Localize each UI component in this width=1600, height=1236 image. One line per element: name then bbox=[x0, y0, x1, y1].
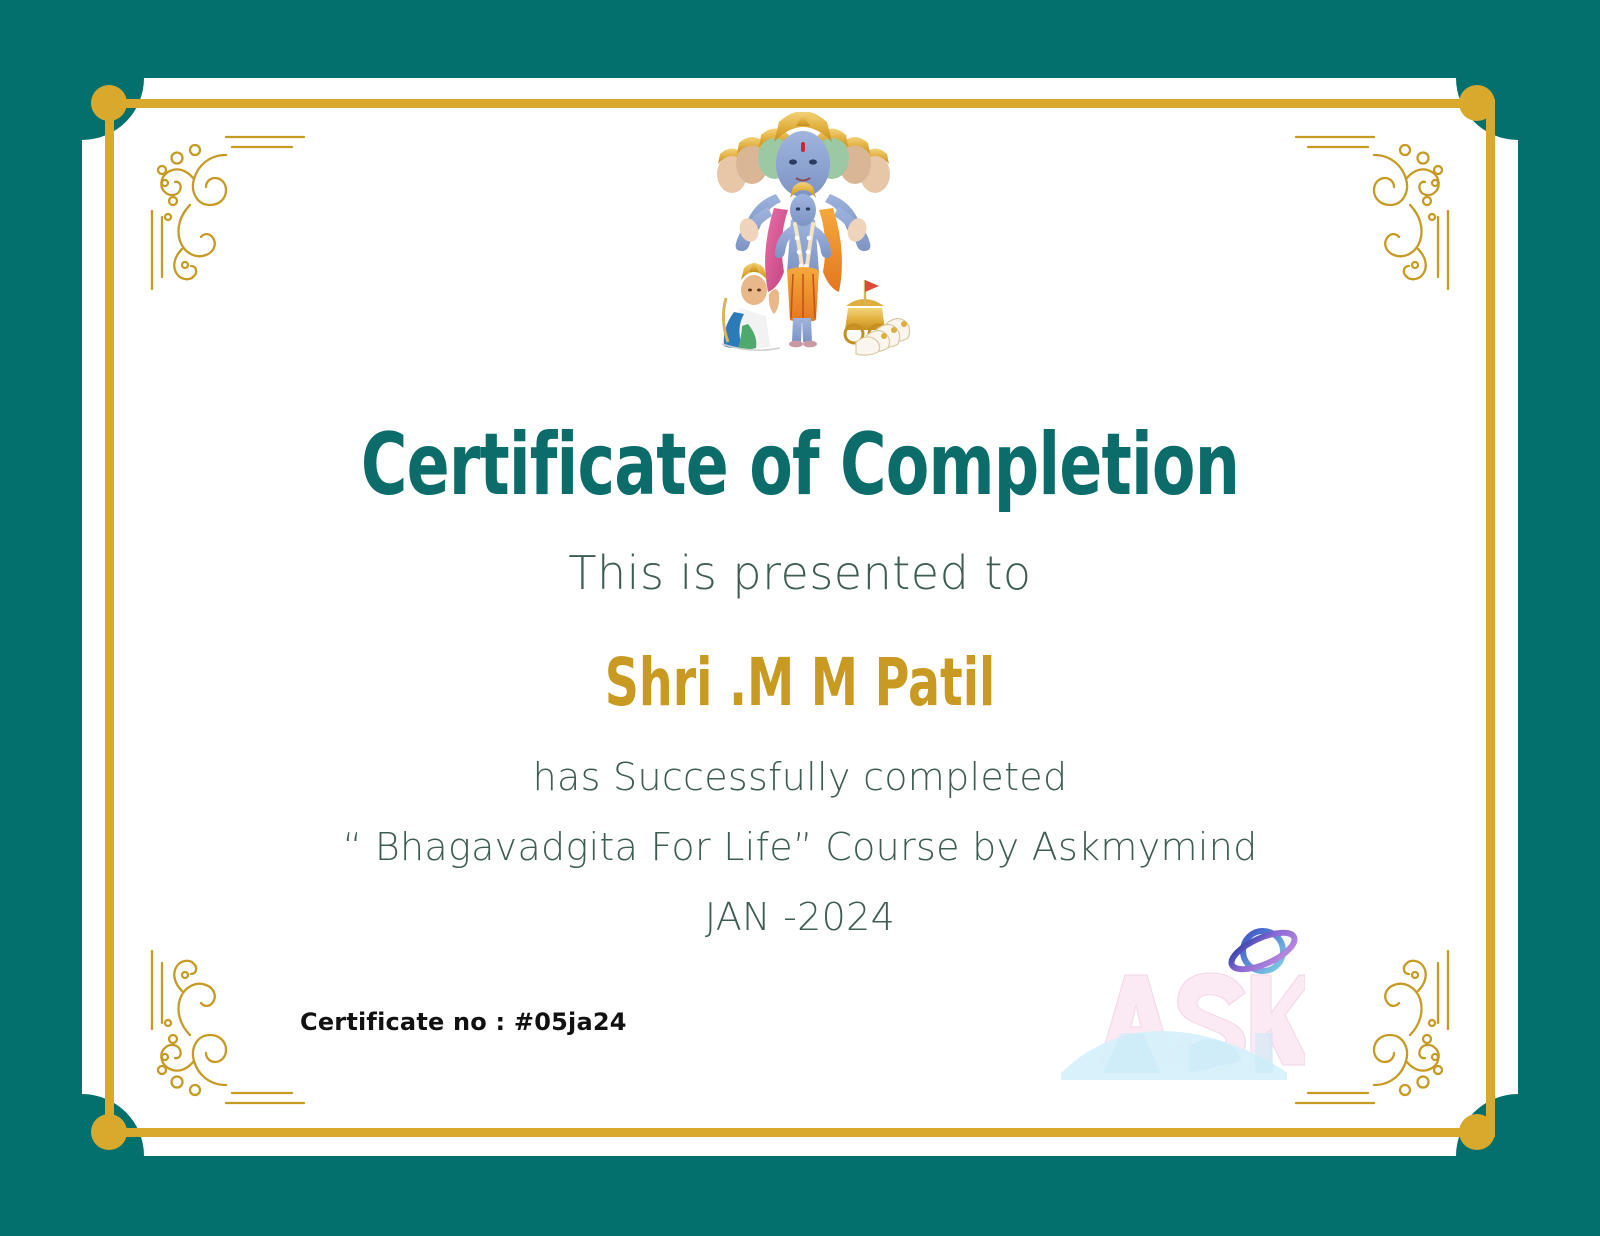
ask-watermark-logo bbox=[1055, 915, 1305, 1080]
certificate-title: Certificate of Completion bbox=[237, 420, 1362, 510]
certificate-content: Certificate of Completion This is presen… bbox=[114, 420, 1486, 939]
presented-to-label: This is presented to bbox=[114, 546, 1486, 600]
corner-flourish-icon-top-left bbox=[140, 125, 330, 315]
gold-frame-knob-bottom-left bbox=[91, 1114, 127, 1150]
completion-line-2-course: “ Bhagavadgita For Life” Course by Askmy… bbox=[114, 825, 1486, 869]
gold-frame-knob-top-left bbox=[91, 85, 127, 121]
corner-flourish-icon-top-right bbox=[1270, 125, 1460, 315]
planet-orbit-icon bbox=[1227, 925, 1300, 976]
certificate-number: Certificate no : #05ja24 bbox=[300, 1008, 627, 1036]
completion-line-1: has Successfully completed bbox=[114, 755, 1486, 799]
gold-frame-line-top bbox=[105, 99, 1495, 108]
recipient-name: Shri .M M Patil bbox=[251, 644, 1349, 721]
vishvarupa-deity-emblem-icon bbox=[696, 112, 911, 362]
gold-frame-knob-bottom-right bbox=[1459, 1114, 1495, 1150]
certificate-root: Certificate of Completion This is presen… bbox=[0, 0, 1600, 1236]
gold-frame-line-bottom bbox=[105, 1128, 1495, 1137]
gold-frame-line-right bbox=[1486, 99, 1495, 1137]
gold-frame-knob-top-right bbox=[1459, 85, 1495, 121]
gold-frame-line-left bbox=[105, 99, 114, 1137]
